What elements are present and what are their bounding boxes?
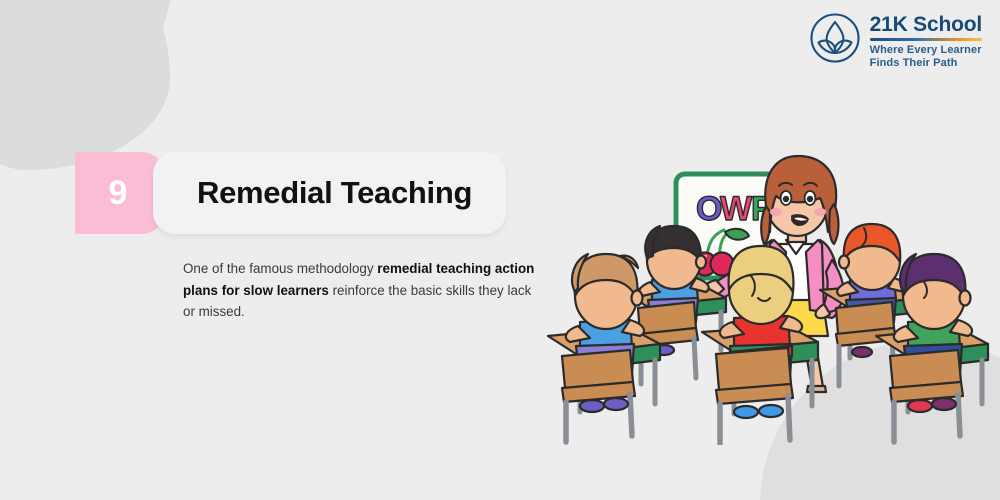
lotus-circle-logo-icon xyxy=(809,12,861,64)
logo-tagline: Where Every Learner Finds Their Path xyxy=(870,44,982,71)
background-blob-top-left xyxy=(0,0,198,176)
logo-name: 21K School xyxy=(870,14,982,36)
svg-text:O: O xyxy=(696,190,722,228)
body-paragraph: One of the famous methodology remedial t… xyxy=(183,258,535,323)
logo-tagline-line2: Finds Their Path xyxy=(870,57,982,70)
logo-tagline-line1: Where Every Learner xyxy=(870,44,982,57)
classroom-illustration: O W F xyxy=(520,140,1000,445)
brand-logo: 21K School Where Every Learner Finds The… xyxy=(809,12,982,71)
section-title-bar: Remedial Teaching xyxy=(153,152,506,234)
section-number: 9 xyxy=(109,176,128,210)
section-title-block: 9 Remedial Teaching xyxy=(75,152,506,234)
page-title: Remedial Teaching xyxy=(197,175,472,211)
body-text-lead: One of the famous methodology xyxy=(183,261,377,276)
background-blob-top-left-secondary xyxy=(0,0,170,170)
svg-text:W: W xyxy=(720,190,753,228)
logo-gradient-rule xyxy=(870,38,982,41)
student-front-left xyxy=(548,254,660,442)
